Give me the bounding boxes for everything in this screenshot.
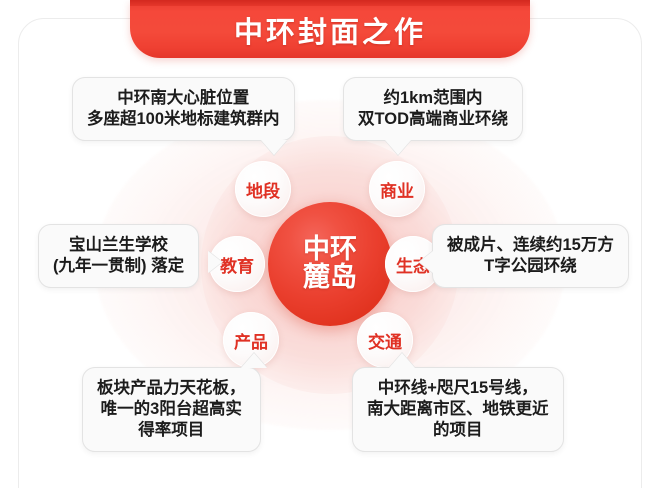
callout-shangye-line2: 双TOD高端商业环绕 — [358, 109, 508, 130]
callout-chanpin-line1: 板块产品力天花板， — [97, 378, 246, 399]
center-hub-label: 中环 麓岛 — [303, 236, 357, 292]
node-didan[interactable]: 地段 — [235, 161, 291, 217]
node-shangye-label: 商业 — [380, 177, 414, 202]
callout-chanpin-line3: 得率项目 — [97, 420, 246, 441]
center-hub-line2: 麓岛 — [303, 264, 357, 292]
center-hub-line1: 中环 — [303, 236, 357, 264]
callout-chanpin: 板块产品力天花板， 唯一的3阳台超高实 得率项目 — [82, 367, 261, 452]
callout-didan: 中环南大心脏位置 多座超100米地标建筑群内 — [72, 77, 295, 141]
title-banner: 中环封面之作 — [130, 0, 530, 58]
callout-tail-icon — [261, 140, 287, 155]
node-chanpin-label: 产品 — [234, 328, 268, 353]
node-jiaoyu-label: 教育 — [220, 252, 254, 277]
callout-didan-line2: 多座超100米地标建筑群内 — [87, 109, 280, 130]
callout-jiaoyu-line1: 宝山兰生学校 — [53, 235, 184, 256]
callout-jiaoyu-line2: (九年一贯制) 落定 — [53, 256, 184, 277]
callout-chanpin-line2: 唯一的3阳台超高实 — [97, 399, 246, 420]
callout-jiaoyu: 宝山兰生学校 (九年一贯制) 落定 — [38, 224, 199, 288]
callout-shangye: 约1km范围内 双TOD高端商业环绕 — [343, 77, 523, 141]
page-title: 中环封面之作 — [130, 9, 530, 51]
callout-tail-icon — [208, 251, 222, 273]
callout-jiaotong-line2: 南大距离市区、地铁更近 — [367, 399, 549, 420]
node-jiaotong-label: 交通 — [368, 328, 402, 353]
callout-shengtai: 被成片、连续约15万方 T字公园环绕 — [432, 224, 629, 288]
callout-jiaotong-line1: 中环线+咫尺15号线， — [367, 378, 549, 399]
infographic-card: 中环封面之作 中环 麓岛 地段 商业 生态 交通 产品 教育 中环南大心脏位置 … — [0, 0, 660, 488]
callout-didan-line1: 中环南大心脏位置 — [87, 88, 280, 109]
callout-shengtai-line1: 被成片、连续约15万方 — [447, 235, 614, 256]
node-didan-label: 地段 — [246, 177, 280, 202]
callout-jiaotong: 中环线+咫尺15号线， 南大距离市区、地铁更近 的项目 — [352, 367, 564, 452]
callout-tail-icon — [389, 353, 415, 368]
callout-tail-icon — [419, 251, 433, 273]
node-shangye[interactable]: 商业 — [369, 161, 425, 217]
callout-tail-icon — [241, 353, 267, 368]
callout-shangye-line1: 约1km范围内 — [358, 88, 508, 109]
callout-jiaotong-line3: 的项目 — [367, 420, 549, 441]
center-hub: 中环 麓岛 — [268, 202, 392, 326]
callout-tail-icon — [385, 140, 411, 155]
callout-shengtai-line2: T字公园环绕 — [447, 256, 614, 277]
